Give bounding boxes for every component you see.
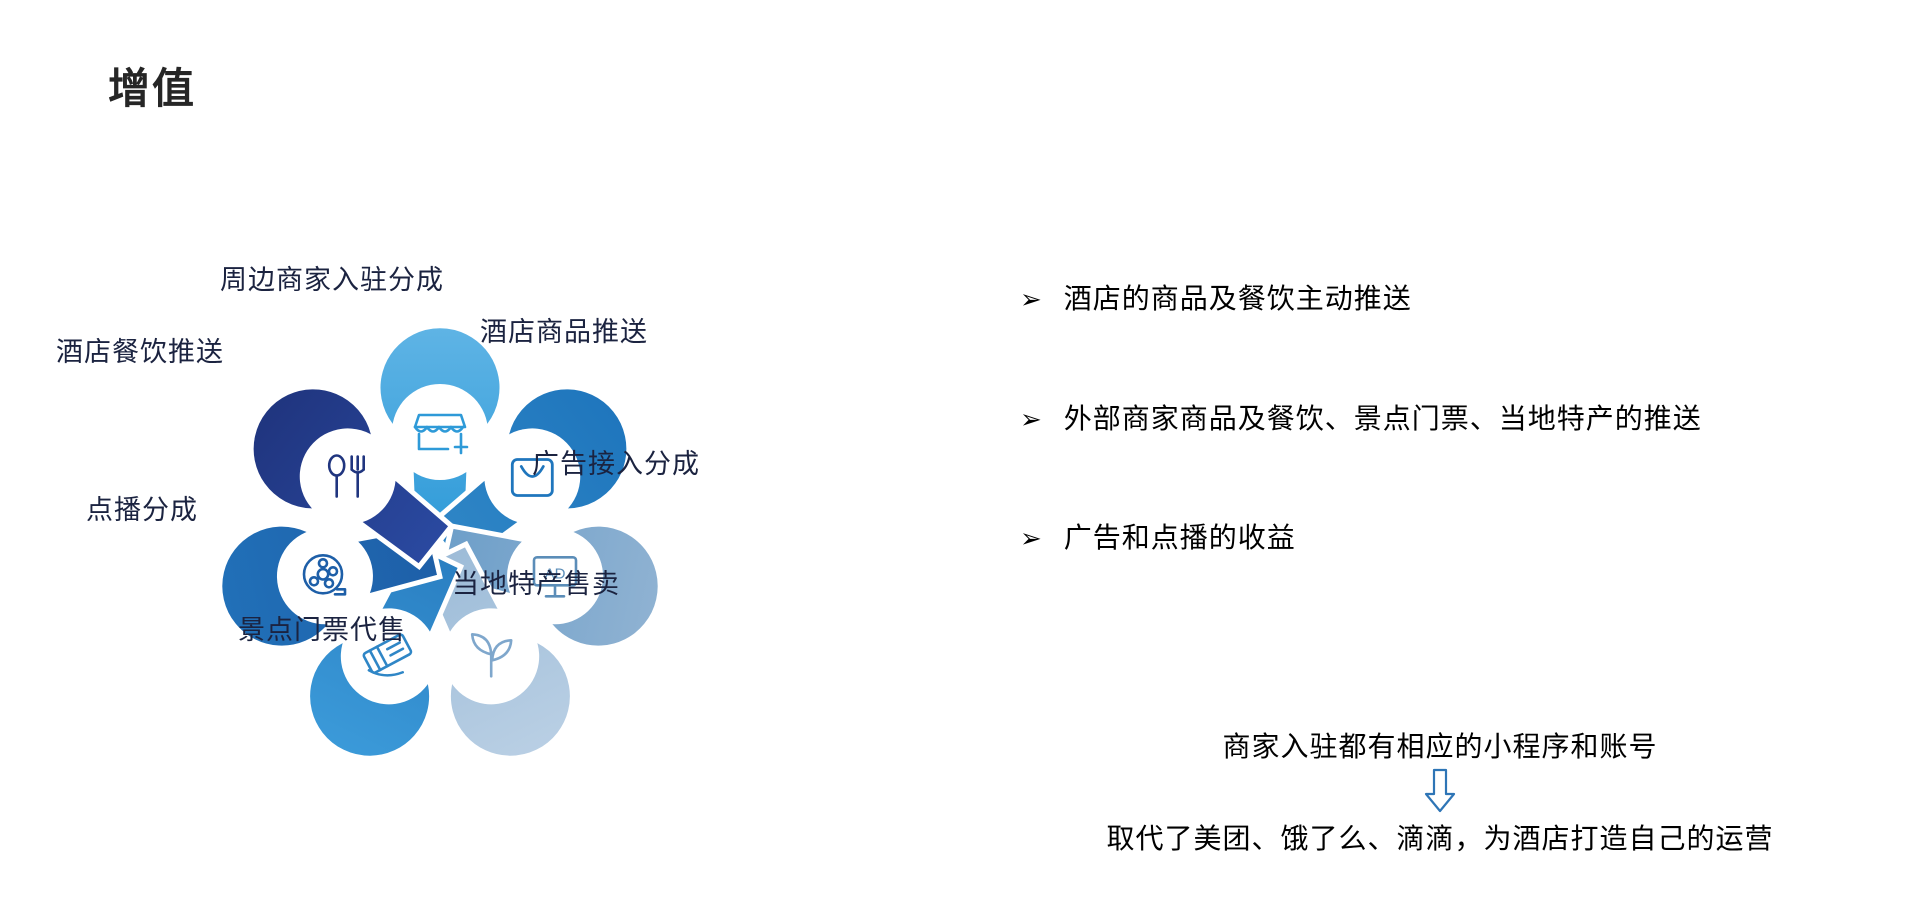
bullet-text: 酒店的商品及餐饮主动推送: [1064, 282, 1412, 316]
conclusion-top-text: 商家入驻都有相应的小程序和账号: [1000, 725, 1880, 765]
bullet-text: 广告和点播的收益: [1064, 521, 1296, 555]
bullet-item: ➢ 外部商家商品及餐饮、景点门票、当地特产的推送: [1020, 402, 1840, 436]
petal-wheel-diagram: AD: [40, 250, 860, 810]
petal-label-cutlery: 酒店餐饮推送: [56, 330, 224, 369]
page-title: 增值: [108, 55, 196, 116]
conclusion-bottom-text: 取代了美团、饿了么、滴滴，为酒店打造自己的运营: [1000, 817, 1880, 857]
petal-label-ad: 广告接入分成: [532, 442, 700, 481]
petal-label-storefront: 周边商家入驻分成: [220, 258, 444, 297]
petal-label-sprout: 当地特产售卖: [452, 562, 620, 601]
bullet-item: ➢ 酒店的商品及餐饮主动推送: [1020, 282, 1840, 316]
petal-label-tickets: 景点门票代售: [238, 608, 406, 647]
arrow-bullet-icon: ➢: [1020, 402, 1042, 432]
petal-label-film-reel: 点播分成: [86, 488, 198, 527]
conclusion-block: 商家入驻都有相应的小程序和账号 取代了美团、饿了么、滴滴，为酒店打造自己的运营: [1000, 725, 1880, 857]
bullet-list: ➢ 酒店的商品及餐饮主动推送 ➢ 外部商家商品及餐饮、景点门票、当地特产的推送 …: [1020, 282, 1840, 641]
arrow-bullet-icon: ➢: [1020, 282, 1042, 312]
arrow-down-outline-icon: [1000, 765, 1880, 817]
bullet-item: ➢ 广告和点播的收益: [1020, 521, 1840, 555]
bullet-text: 外部商家商品及餐饮、景点门票、当地特产的推送: [1064, 402, 1702, 436]
arrow-bullet-icon: ➢: [1020, 521, 1042, 551]
petal-label-shopping-bag: 酒店商品推送: [480, 310, 648, 349]
